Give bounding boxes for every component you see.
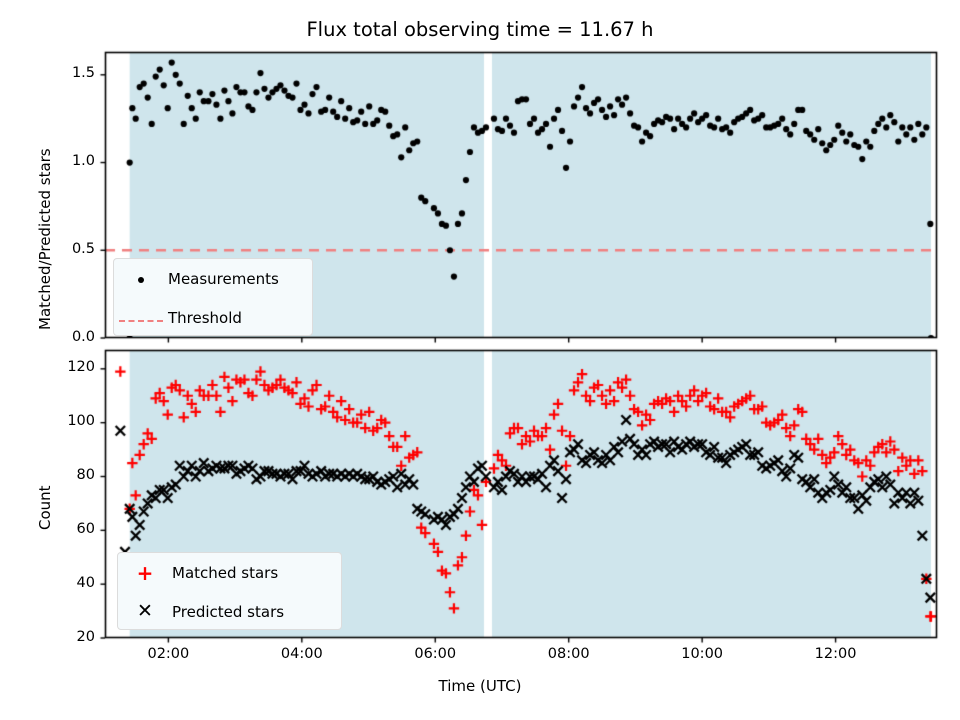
legend-item-matched-stars: + Matched stars <box>118 553 341 592</box>
measurements-dot-icon <box>114 271 168 286</box>
threshold-dashed-line-icon <box>114 310 168 325</box>
legend-label-measurements: Measurements <box>168 270 279 288</box>
bottom-ytick-label-0: 20 <box>35 629 95 645</box>
legend-item-predicted-stars: ✕ Predicted stars <box>118 592 341 631</box>
legend-label-predicted-stars: Predicted stars <box>172 603 284 621</box>
x-axis-label: Time (UTC) <box>0 677 960 695</box>
x-tick-label-1: 04:00 <box>262 646 342 662</box>
top-ytick-label-2: 1.0 <box>35 153 95 169</box>
legend-label-threshold: Threshold <box>168 309 242 327</box>
figure-title: Flux total observing time = 11.67 h <box>0 18 960 41</box>
top-ytick-label-0: 0.0 <box>35 329 95 345</box>
x-tick-label-5: 12:00 <box>796 646 876 662</box>
top-ytick-label-3: 1.5 <box>35 65 95 81</box>
x-tick-label-4: 10:00 <box>662 646 742 662</box>
bottom-ytick-label-2: 60 <box>35 521 95 537</box>
bottom-ytick-label-1: 40 <box>35 575 95 591</box>
legend-item-threshold: Threshold <box>114 298 312 337</box>
matched-stars-plus-icon: + <box>118 563 172 583</box>
bottom-ytick-label-4: 100 <box>35 413 95 429</box>
x-tick-label-0: 02:00 <box>128 646 208 662</box>
matplotlib-figure: Flux total observing time = 11.67 h Matc… <box>0 0 960 720</box>
top-panel-legend: Measurements Threshold <box>113 258 313 336</box>
bottom-ytick-label-5: 120 <box>35 359 95 375</box>
top-ytick-label-1: 0.5 <box>35 241 95 257</box>
legend-label-matched-stars: Matched stars <box>172 564 278 582</box>
bottom-panel-legend: + Matched stars ✕ Predicted stars <box>117 552 342 630</box>
x-tick-label-2: 06:00 <box>395 646 475 662</box>
x-tick-label-3: 08:00 <box>529 646 609 662</box>
legend-item-measurements: Measurements <box>114 259 312 298</box>
bottom-ytick-label-3: 80 <box>35 467 95 483</box>
predicted-stars-cross-icon: ✕ <box>118 602 172 621</box>
top-panel-y-axis-label: Matched/Predicted stars <box>36 148 54 330</box>
